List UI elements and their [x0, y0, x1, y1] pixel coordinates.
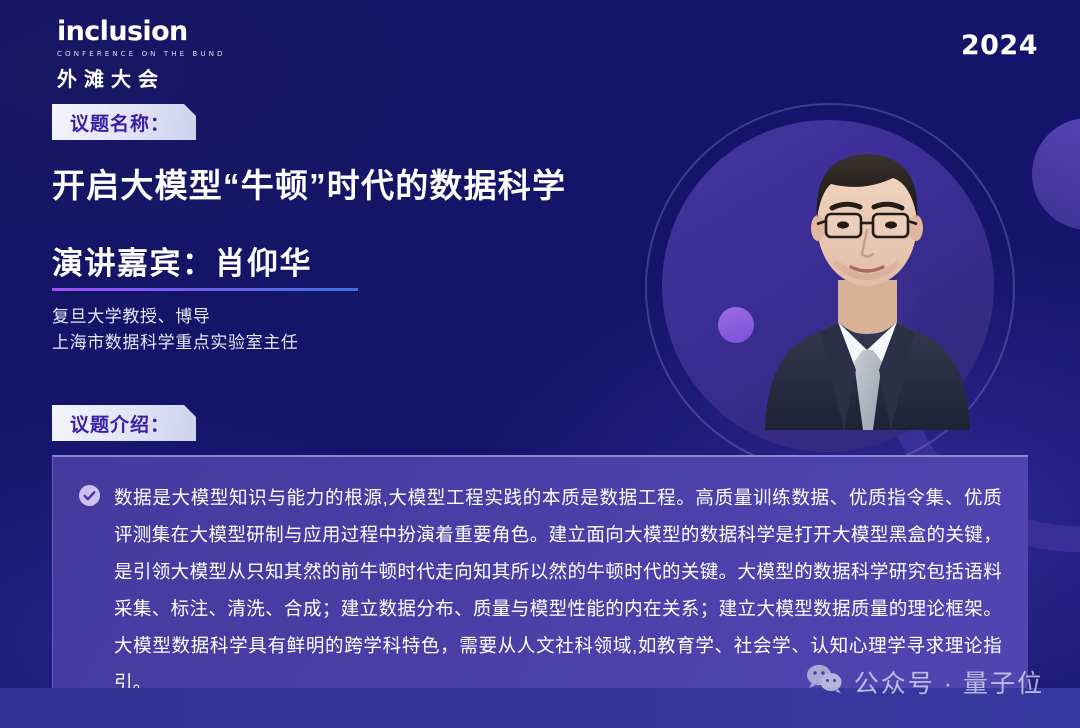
event-year: 2024: [961, 30, 1038, 61]
logo-subtitle: CONFERENCE ON THE BUND: [57, 49, 257, 58]
logo-chinese-name: 外滩大会: [57, 63, 257, 92]
wechat-icon: [806, 663, 844, 700]
watermark-text: 公众号 · 量子位: [854, 664, 1044, 700]
slide-canvas: inclusion CONFERENCE ON THE BUND 外滩大会 20…: [0, 0, 1080, 728]
event-logo: inclusion CONFERENCE ON THE BUND 外滩大会: [57, 18, 257, 92]
topic-label-text: 议题名称：: [70, 109, 170, 136]
intro-body-text: 数据是大模型知识与能力的根源,大模型工程实践的本质是数据工程。高质量训练数据、优…: [114, 479, 1002, 688]
talk-title: 开启大模型“牛顿”时代的数据科学: [52, 159, 566, 207]
wechat-watermark: 公众号 · 量子位: [806, 663, 1044, 700]
intro-panel: 数据是大模型知识与能力的根源,大模型工程实践的本质是数据工程。高质量训练数据、优…: [52, 455, 1028, 688]
affiliation-line-2: 上海市数据科学重点实验室主任: [52, 330, 298, 356]
check-circle-icon: [79, 485, 100, 506]
speaker-line: 演讲嘉宾：肖仰华: [52, 238, 312, 283]
topic-label-chip: 议题名称：: [52, 104, 196, 140]
decorative-dot: [718, 307, 754, 343]
speaker-affiliation: 复旦大学教授、博导 上海市数据科学重点实验室主任: [52, 304, 298, 356]
affiliation-line-1: 复旦大学教授、博导: [52, 304, 298, 330]
speaker-divider: [52, 288, 358, 291]
intro-label-chip: 议题介绍：: [52, 405, 196, 441]
speaker-portrait: [760, 112, 975, 430]
intro-label-text: 议题介绍：: [70, 410, 170, 437]
logo-wordmark: inclusion: [57, 18, 257, 45]
